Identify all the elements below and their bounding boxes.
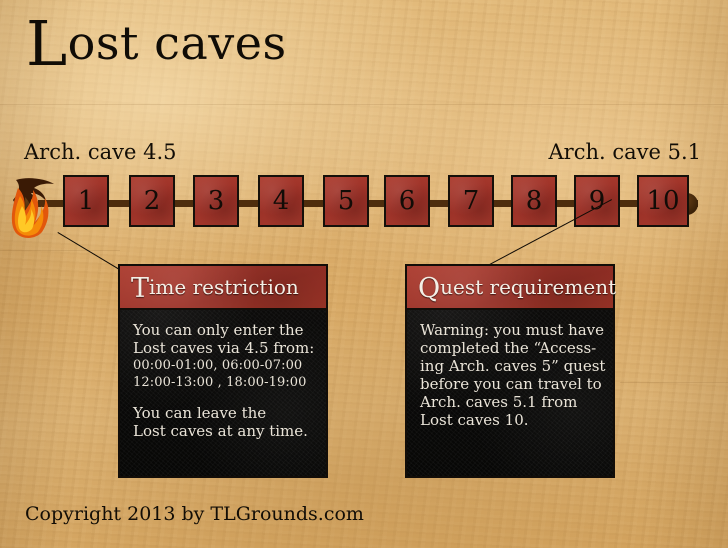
info-box-line: 00:00-01:00, 06:00-07:00 — [133, 357, 316, 374]
info-box-line: Warning: you must have — [420, 321, 603, 339]
cave-node-3[interactable]: 3 — [193, 175, 239, 227]
info-box-line: Arch. caves 5.1 from — [420, 393, 603, 411]
info-box-title-rest: uest requirement — [440, 275, 616, 299]
info-box-time-restriction: Time restrictionYou can only enter theLo… — [118, 264, 328, 478]
page-title-rest: ost caves — [68, 16, 287, 70]
info-box-line: Lost caves 10. — [420, 411, 603, 429]
info-box-line: Lost caves via 4.5 from: — [133, 339, 316, 357]
info-box-header-quest-requirement: Quest requirement — [407, 266, 613, 310]
info-box-title-time-restriction: Time restriction — [131, 275, 299, 299]
page-canvas: Lost caves Arch. cave 4.5 Arch. cave 5.1… — [0, 0, 728, 548]
copyright-text: Copyright 2013 by TLGrounds.com — [25, 503, 364, 525]
info-box-line: before you can travel to — [420, 375, 603, 393]
cave-node-6[interactable]: 6 — [384, 175, 430, 227]
parchment-seam — [0, 250, 120, 251]
page-title-capital: L — [26, 7, 68, 80]
info-box-header-time-restriction: Time restriction — [120, 266, 326, 310]
route-start-label: Arch. cave 4.5 — [24, 140, 177, 164]
cave-node-10[interactable]: 10 — [637, 175, 689, 227]
cave-node-2[interactable]: 2 — [129, 175, 175, 227]
info-box-line: You can leave the — [133, 404, 316, 422]
cave-node-8[interactable]: 8 — [511, 175, 557, 227]
cave-node-5[interactable]: 5 — [323, 175, 369, 227]
parchment-seam — [0, 104, 728, 105]
info-box-body-quest-requirement: Warning: you must havecompleted the “Acc… — [407, 310, 613, 437]
info-box-title-capital: T — [131, 273, 149, 304]
parchment-seam — [620, 382, 728, 383]
info-box-body-time-restriction: You can only enter theLost caves via 4.5… — [120, 310, 326, 448]
line-spacer — [133, 391, 316, 404]
flame-icon — [6, 170, 62, 242]
info-box-quest-requirement: Quest requirementWarning: you must havec… — [405, 264, 615, 478]
info-box-line: Lost caves at any time. — [133, 422, 316, 440]
info-box-line: You can only enter the — [133, 321, 316, 339]
info-box-line: completed the “Access- — [420, 339, 603, 357]
info-box-line: 12:00-13:00 , 18:00-19:00 — [133, 374, 316, 391]
cave-node-9[interactable]: 9 — [574, 175, 620, 227]
cave-route-chain: 12345678910 — [0, 175, 728, 231]
cave-node-7[interactable]: 7 — [448, 175, 494, 227]
page-title: Lost caves — [26, 20, 287, 66]
info-box-title-quest-requirement: Quest requirement — [418, 275, 616, 299]
cave-node-4[interactable]: 4 — [258, 175, 304, 227]
info-box-title-rest: ime restriction — [149, 275, 299, 299]
info-box-title-capital: Q — [418, 273, 440, 304]
info-box-line: ing Arch. caves 5” quest — [420, 357, 603, 375]
route-end-label: Arch. cave 5.1 — [549, 140, 702, 164]
cave-node-1[interactable]: 1 — [63, 175, 109, 227]
